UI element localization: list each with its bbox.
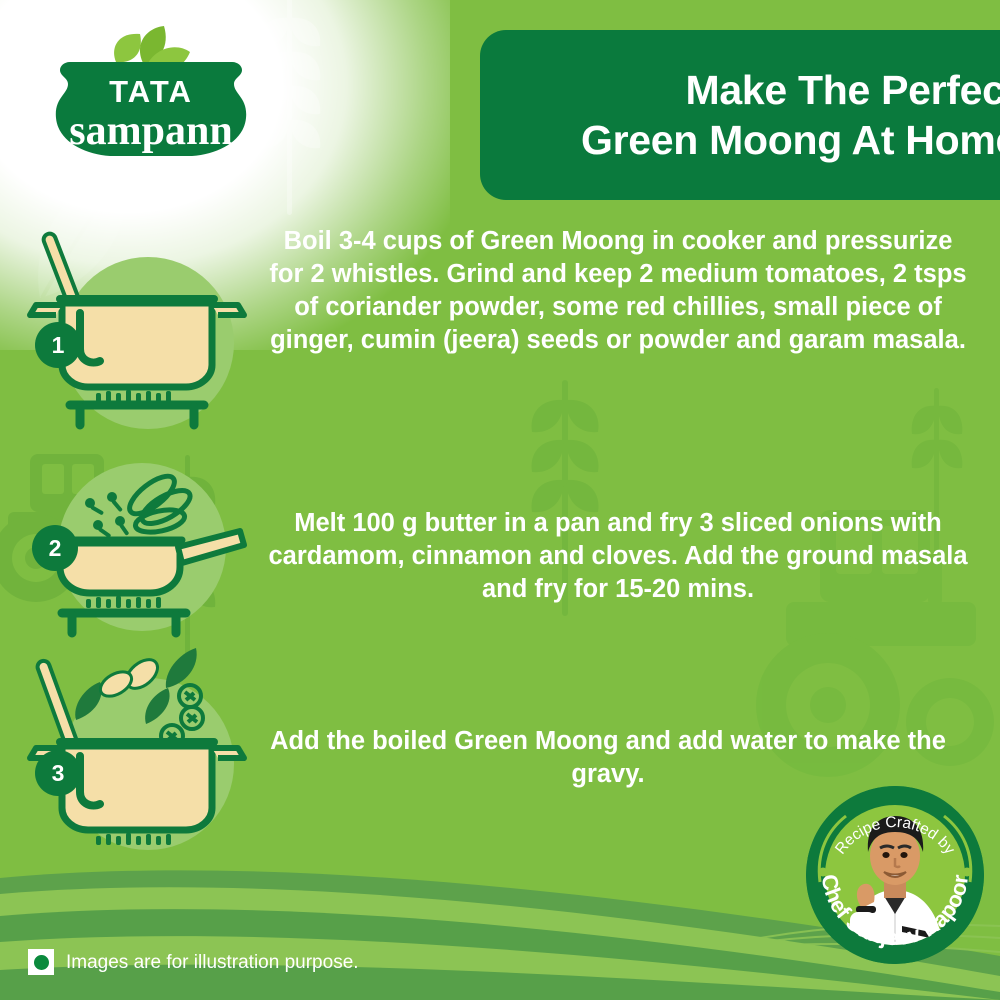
logo-text-tata: TATA	[109, 74, 193, 109]
page-title: Make The Perfect Green Moong At Home	[581, 65, 1000, 165]
step-1-text: Boil 3-4 cups of Green Moong in cooker a…	[268, 225, 968, 358]
step-3-badge: 3	[35, 750, 81, 796]
pot-with-spoon-and-falling-ingredients-icon	[0, 640, 250, 860]
step-1-badge: 1	[35, 322, 81, 368]
step-2-badge: 2	[32, 525, 78, 571]
title-line-2: Green Moong At Home	[581, 115, 1000, 165]
chef-endorsement-badge: Recipe Crafted by Chef Sanjeev Kapoor	[806, 786, 984, 964]
header-panel: Make The Perfect Green Moong At Home	[480, 30, 1000, 200]
step-3: 3	[0, 640, 1000, 791]
brand-logo: TATA sampann	[42, 22, 262, 167]
infographic-poster: TATA sampann Make The Perfect Green Moon…	[0, 0, 1000, 1000]
cooking-pot-with-spoon-on-stove-icon	[0, 225, 250, 435]
footer-note: Images are for illustration purpose.	[66, 952, 359, 974]
step-2: 2	[0, 455, 1000, 606]
step-2-text: Melt 100 g butter in a pan and fry 3 sli…	[268, 507, 968, 606]
logo-text-sampann: sampann	[69, 108, 232, 154]
step-1: 1	[0, 225, 1000, 358]
vegetarian-mark-icon	[28, 949, 54, 975]
title-line-1: Make The Perfect	[581, 65, 1000, 115]
step-3-text: Add the boiled Green Moong and add water…	[268, 725, 948, 791]
